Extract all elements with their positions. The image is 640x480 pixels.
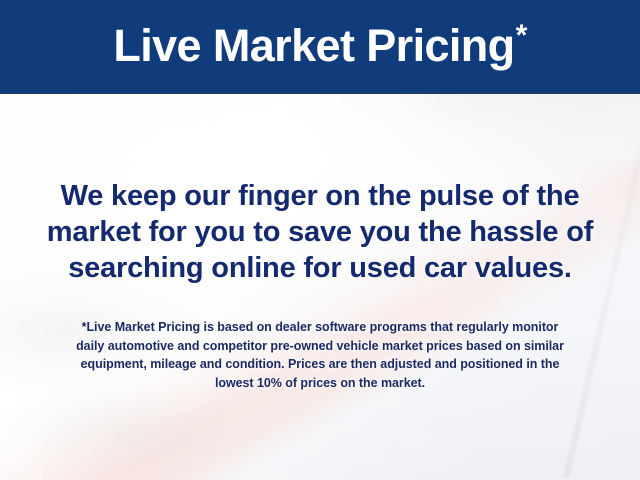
- disclaimer-line-2: daily automotive and competitor pre-owne…: [0, 337, 640, 356]
- page-title-text: Live Market Pricing: [113, 20, 514, 71]
- disclaimer-line-4: lowest 10% of prices on the market.: [0, 374, 640, 393]
- disclaimer: *Live Market Pricing is based on dealer …: [0, 318, 640, 392]
- page-title: Live Market Pricing*: [113, 23, 526, 70]
- headline: We keep our finger on the pulse of the m…: [0, 178, 640, 286]
- headline-line-1: We keep our finger on the pulse of the: [0, 178, 640, 214]
- header-band: Live Market Pricing*: [0, 0, 640, 93]
- headline-line-3: searching online for used car values.: [0, 250, 640, 286]
- disclaimer-line-1: *Live Market Pricing is based on dealer …: [0, 318, 640, 337]
- page-title-asterisk: *: [516, 19, 527, 52]
- disclaimer-line-3: equipment, mileage and condition. Prices…: [0, 355, 640, 374]
- headline-line-2: market for you to save you the hassle of: [0, 214, 640, 250]
- live-market-pricing-banner: Live Market Pricing* We keep our finger …: [0, 0, 640, 480]
